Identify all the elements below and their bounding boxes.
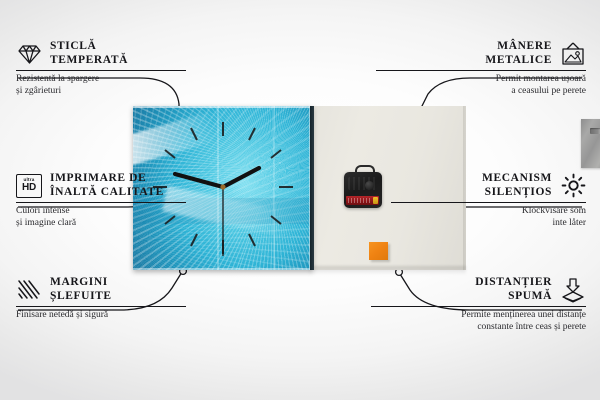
callout-subtitle-line2: a ceasului pe perete (376, 86, 586, 98)
callout-rule (16, 202, 186, 203)
tick-2 (271, 150, 281, 158)
callout-head: DISTANȚIER SPUMĂ (371, 276, 586, 303)
glass-highlight-bottom (133, 268, 313, 270)
callout-manere-metalice: MÂNERE METALICE Permit montarea ușoară a… (376, 40, 586, 97)
gear-icon (560, 173, 586, 199)
callout-subtitle-line1: Permite menținerea unei distanțe (371, 310, 586, 322)
callout-subtitle-line2: constante între ceas și perete (371, 322, 586, 334)
callout-subtitle-line2: și imagine clară (16, 218, 186, 230)
hanger-slot (590, 128, 600, 134)
panel-shadow (309, 266, 466, 275)
callout-subtitle-line2: și zgârieturi (16, 86, 186, 98)
tick-10 (165, 150, 175, 158)
diamond-icon (16, 41, 42, 67)
tick-5 (249, 234, 255, 246)
arrow-down-layers-icon (560, 277, 586, 303)
picture-hanger-icon (560, 41, 586, 67)
callout-mecanism-silentios: MECANISM SILENȚIOS (391, 172, 586, 229)
battery-label (348, 198, 372, 203)
hatch-lines-icon (16, 277, 42, 303)
battery (346, 196, 379, 205)
foam-spacer (369, 242, 388, 260)
callout-subtitle-line1: Finisare netedă și sigură (16, 310, 186, 322)
callout-margini-slefuite: MARGINI ȘLEFUITE Finisare netedă și sigu… (16, 276, 186, 322)
callout-rule (16, 70, 186, 71)
callout-subtitle-line1: Culori intense (16, 206, 186, 218)
callout-head: MARGINI ȘLEFUITE (16, 276, 186, 303)
callout-rule (16, 306, 186, 307)
callout-head: MECANISM SILENȚIOS (391, 172, 586, 199)
callout-subtitle-line2: inte låter (391, 218, 586, 230)
hour-hand (223, 168, 259, 187)
callout-subtitle-line1: Klockvisare som (391, 206, 586, 218)
clock-center-hub (220, 184, 225, 189)
callout-head: STICLĂ TEMPERATĂ (16, 40, 186, 67)
tick-7 (191, 234, 197, 246)
mechanism-dial (365, 181, 374, 190)
callout-subtitle-line1: Permit montarea ușoară (376, 74, 586, 86)
glass-highlight-top (133, 106, 313, 108)
tick-11 (191, 128, 197, 140)
metal-hanger-plate (581, 119, 600, 168)
mechanism-body (344, 172, 382, 208)
infographic-stage: STICLĂ TEMPERATĂ Rezistentă la spargere … (0, 0, 600, 400)
callout-head: MÂNERE METALICE (376, 40, 586, 67)
callout-rule (391, 202, 586, 203)
callout-subtitle-line1: Rezistentă la spargere (16, 74, 186, 86)
tick-4 (271, 216, 281, 224)
callout-title: MÂNERE METALICE (485, 40, 552, 67)
callout-title: MECANISM SILENȚIOS (482, 172, 552, 199)
tick-1 (249, 128, 255, 140)
callout-rule (376, 70, 586, 71)
callout-head: ultra HD IMPRIMARE DE ÎNALTĂ CALITATE (16, 172, 186, 199)
callout-title: MARGINI ȘLEFUITE (50, 276, 112, 303)
callout-title: STICLĂ TEMPERATĂ (50, 40, 128, 67)
quartz-mechanism (344, 165, 382, 208)
callout-sticla-temperata: STICLĂ TEMPERATĂ Rezistentă la spargere … (16, 40, 186, 97)
callout-distantier-spuma: DISTANȚIER SPUMĂ Permite menținerea unei… (371, 276, 586, 333)
hd-badge-hd-text: HD (22, 183, 36, 193)
ultra-hd-badge-icon: ultra HD (16, 173, 42, 199)
callout-title: DISTANȚIER SPUMĂ (475, 276, 552, 303)
clock-panel-seam (310, 106, 314, 270)
callout-imprimare-inalta-calitate: ultra HD IMPRIMARE DE ÎNALTĂ CALITATE Cu… (16, 172, 186, 229)
callout-title: IMPRIMARE DE ÎNALTĂ CALITATE (50, 172, 164, 199)
callout-rule (371, 306, 586, 307)
